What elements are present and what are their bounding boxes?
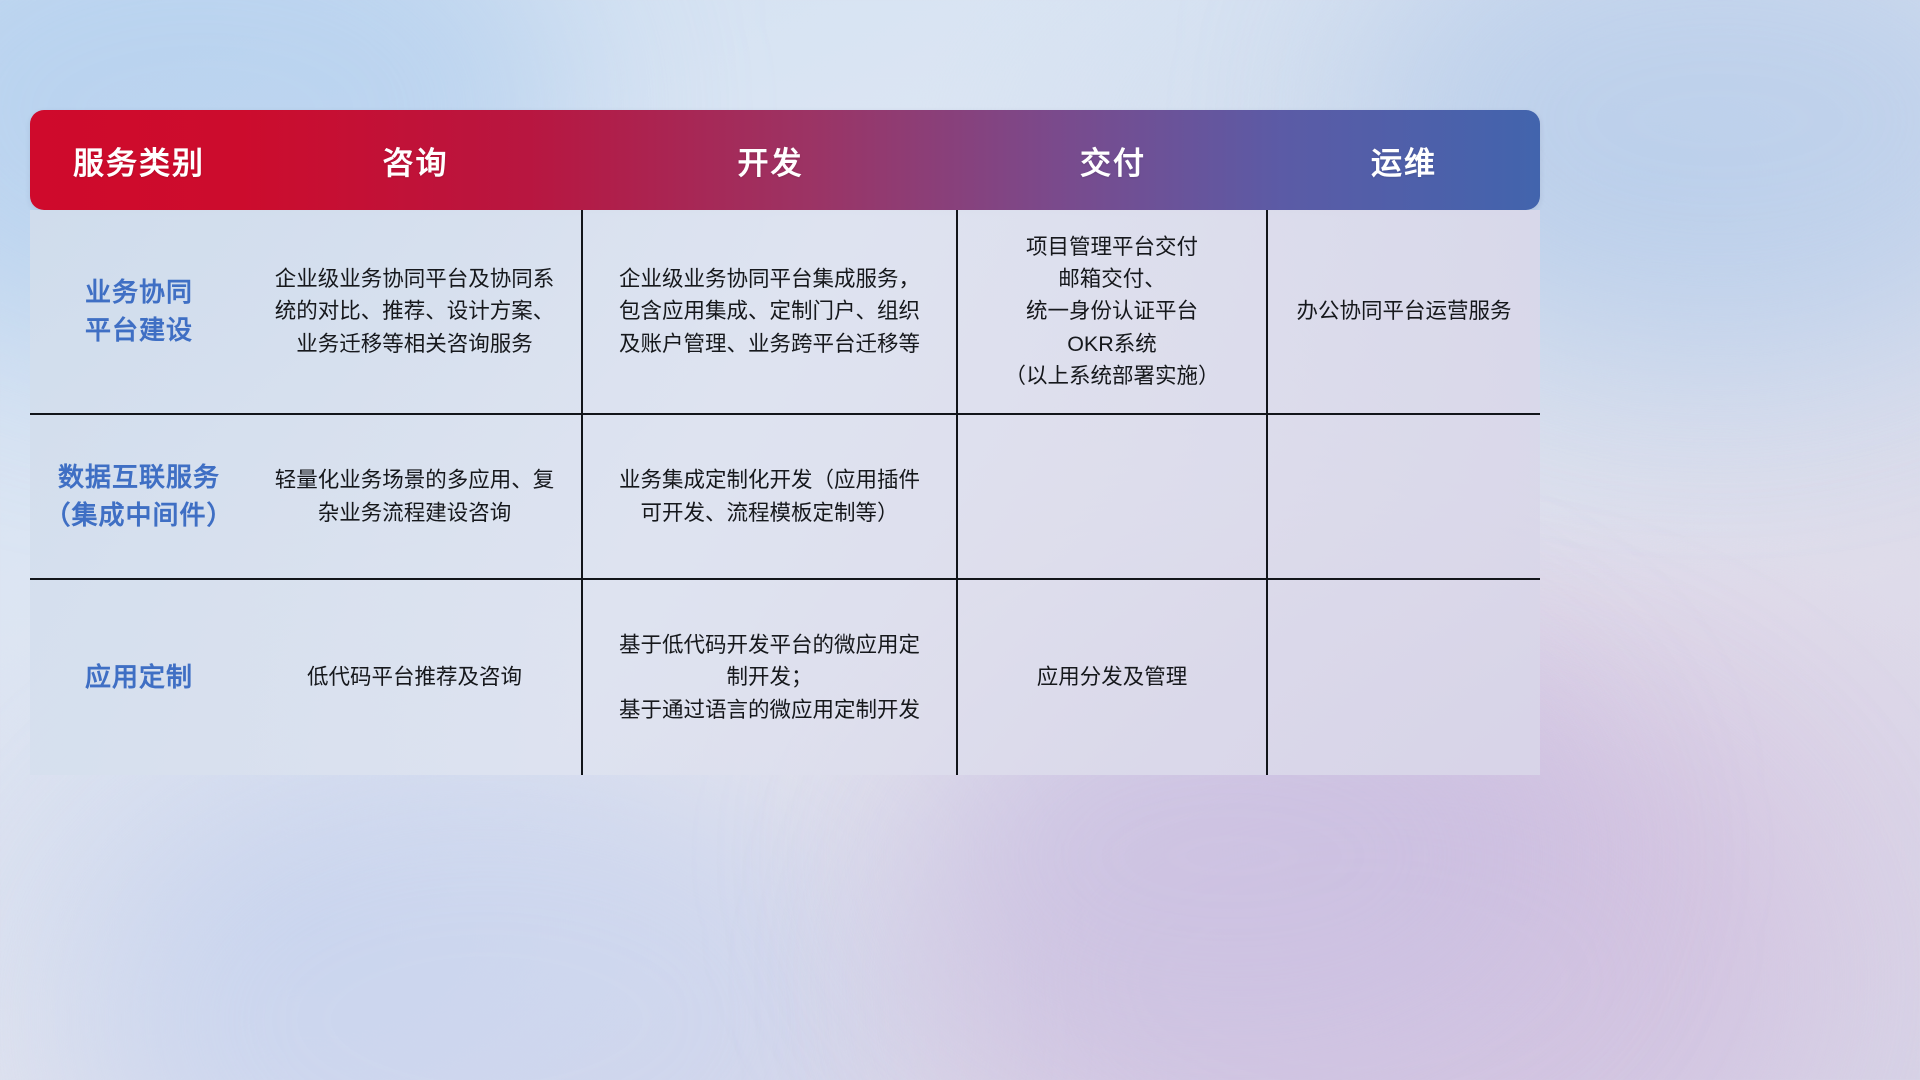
category-text: 数据互联服务 （集成中间件） [44, 459, 233, 534]
table-row: 应用定制 低代码平台推荐及咨询 基于低代码开发平台的微应用定 制开发； 基于通过… [30, 580, 1540, 775]
column-header-operations: 运维 [1268, 110, 1540, 210]
category-text: 业务协同 平台建设 [85, 274, 193, 349]
table-body: 业务协同 平台建设 企业级业务协同平台及协同系 统的对比、推荐、设计方案、 业务… [30, 210, 1540, 775]
cell-development: 基于低代码开发平台的微应用定 制开发； 基于通过语言的微应用定制开发 [583, 580, 958, 775]
cell-development: 企业级业务协同平台集成服务， 包含应用集成、定制门户、组织 及账户管理、业务跨平… [583, 210, 958, 413]
column-header-development: 开发 [583, 110, 958, 210]
cell-delivery: 项目管理平台交付 邮箱交付、 统一身份认证平台 OKR系统 （以上系统部署实施） [958, 210, 1268, 413]
row-category-label: 业务协同 平台建设 [30, 210, 248, 413]
category-text: 应用定制 [85, 659, 193, 697]
cell-delivery [958, 415, 1268, 578]
cell-operations [1268, 580, 1540, 775]
cell-delivery: 应用分发及管理 [958, 580, 1268, 775]
cell-consulting: 轻量化业务场景的多应用、复 杂业务流程建设咨询 [248, 415, 583, 578]
column-header-category: 服务类别 [30, 110, 248, 210]
table-row: 业务协同 平台建设 企业级业务协同平台及协同系 统的对比、推荐、设计方案、 业务… [30, 210, 1540, 415]
cell-consulting: 低代码平台推荐及咨询 [248, 580, 583, 775]
cell-consulting: 企业级业务协同平台及协同系 统的对比、推荐、设计方案、 业务迁移等相关咨询服务 [248, 210, 583, 413]
background-blob-bottom-left [77, 740, 897, 1080]
row-category-label: 应用定制 [30, 580, 248, 775]
service-matrix-table: 服务类别 咨询 开发 交付 运维 业务协同 平台建设 企业级业务协同平台及协同系… [30, 110, 1540, 775]
column-header-delivery: 交付 [958, 110, 1268, 210]
cell-development: 业务集成定制化开发（应用插件 可开发、流程模板定制等） [583, 415, 958, 578]
row-category-label: 数据互联服务 （集成中间件） [30, 415, 248, 578]
column-header-consulting: 咨询 [248, 110, 583, 210]
cell-operations: 办公协同平台运营服务 [1268, 210, 1540, 413]
cell-operations [1268, 415, 1540, 578]
table-header-row: 服务类别 咨询 开发 交付 运维 [30, 110, 1540, 210]
table-row: 数据互联服务 （集成中间件） 轻量化业务场景的多应用、复 杂业务流程建设咨询 业… [30, 415, 1540, 580]
